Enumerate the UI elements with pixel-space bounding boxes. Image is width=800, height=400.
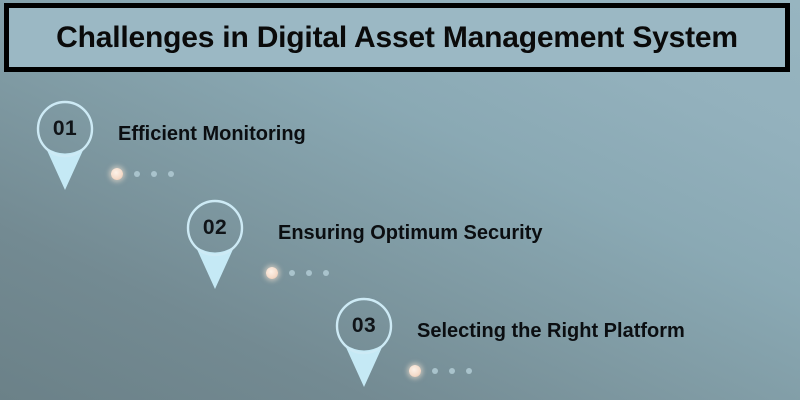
- infographic-canvas: Challenges in Digital Asset Management S…: [0, 0, 800, 400]
- step-dots-3: [409, 365, 472, 377]
- step-item-1: 01 Efficient Monitoring: [36, 100, 776, 195]
- dot-small: [466, 368, 472, 374]
- map-pin-icon: 02: [186, 199, 244, 291]
- step-dots-1: [111, 168, 174, 180]
- dot-small: [168, 171, 174, 177]
- step-number-1: 01: [36, 100, 94, 158]
- step-number-3: 03: [335, 297, 393, 355]
- page-title: Challenges in Digital Asset Management S…: [56, 23, 738, 53]
- step-item-2: 02 Ensuring Optimum Security: [186, 199, 786, 294]
- step-label-3: Selecting the Right Platform: [417, 321, 685, 341]
- dot-small: [306, 270, 312, 276]
- dot-small: [432, 368, 438, 374]
- dot-small: [289, 270, 295, 276]
- dot-lead-2: [266, 267, 278, 279]
- dot-small: [449, 368, 455, 374]
- step-number-2: 02: [186, 199, 244, 257]
- step-dots-2: [266, 267, 329, 279]
- step-label-1: Efficient Monitoring: [118, 124, 306, 144]
- dot-lead-3: [409, 365, 421, 377]
- map-pin-icon: 01: [36, 100, 94, 192]
- dot-small: [323, 270, 329, 276]
- step-label-2: Ensuring Optimum Security: [278, 223, 542, 243]
- dot-lead-1: [111, 168, 123, 180]
- step-item-3: 03 Selecting the Right Platform: [335, 297, 795, 392]
- map-pin-icon: 03: [335, 297, 393, 389]
- title-banner: Challenges in Digital Asset Management S…: [4, 3, 790, 72]
- dot-small: [134, 171, 140, 177]
- dot-small: [151, 171, 157, 177]
